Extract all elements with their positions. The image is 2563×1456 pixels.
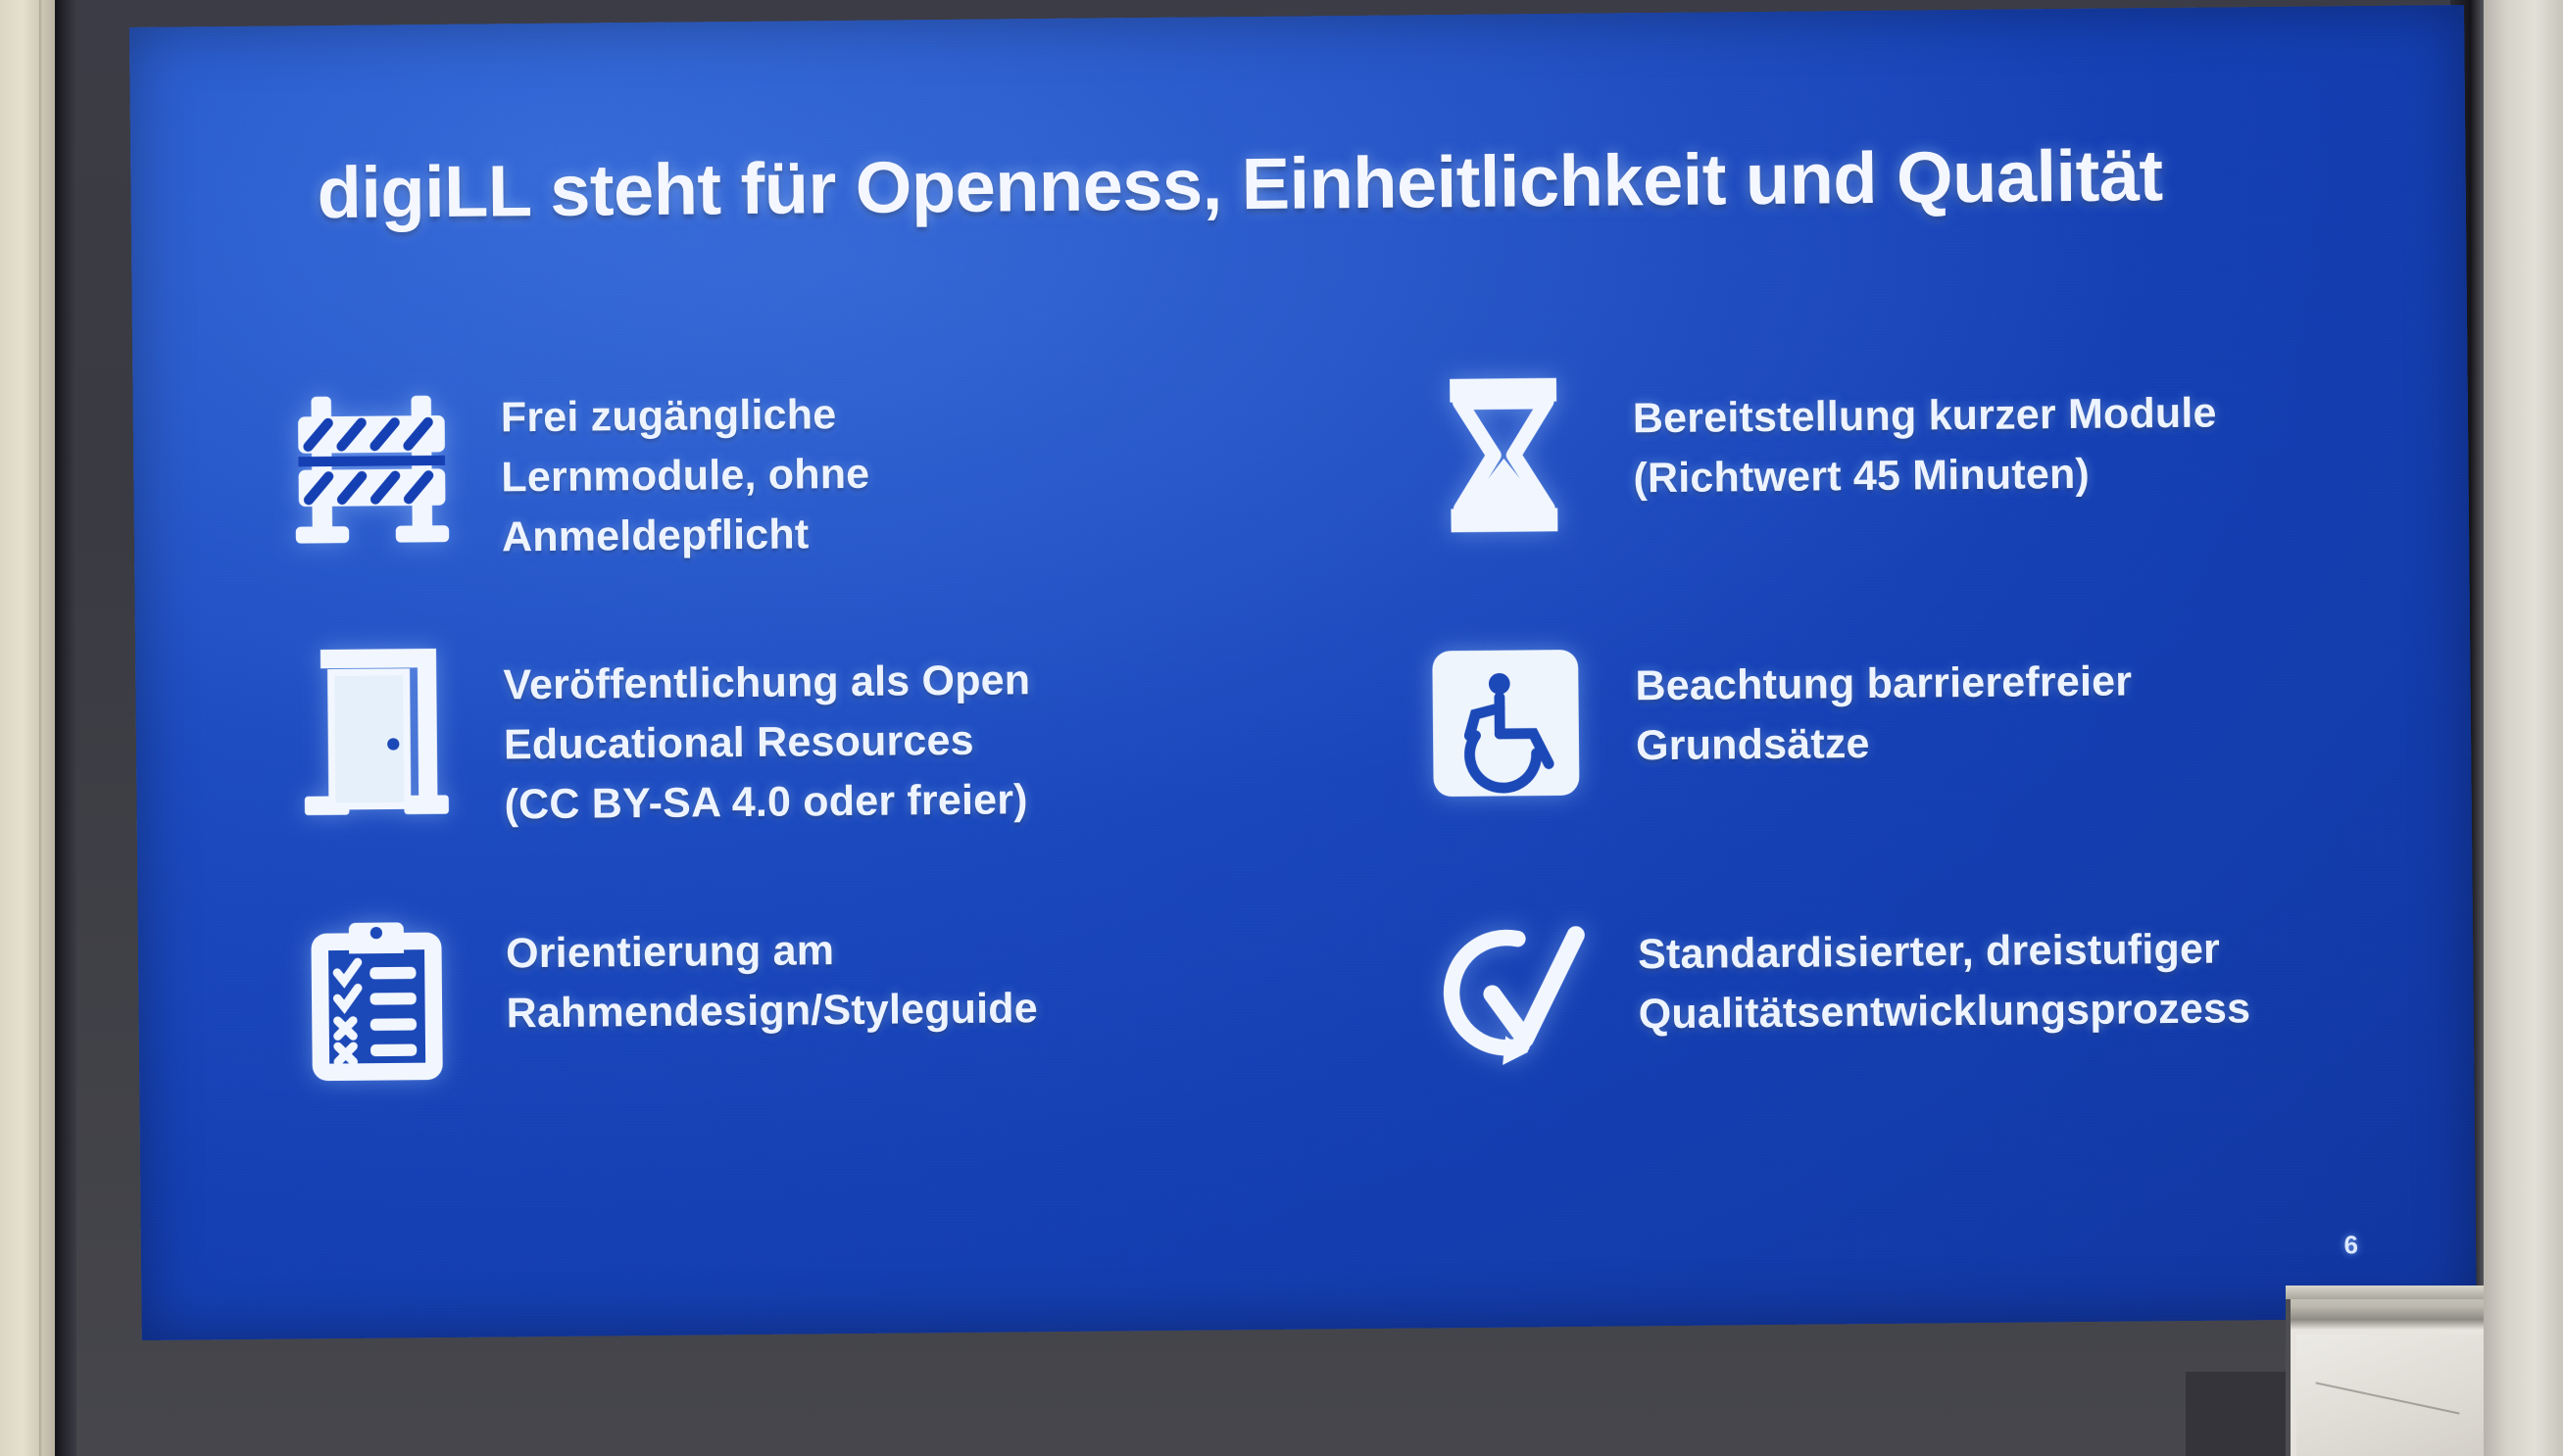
slide-page-number: 6 — [2343, 1230, 2358, 1260]
feature-text: Veröffentlichung als Open Educational Re… — [503, 630, 1032, 836]
feature-text: Orientierung am Rahmendesign/Styleguide — [506, 898, 1039, 1043]
feature-line: Frei zugängliche — [501, 385, 869, 449]
feature-line: Veröffentlichung als Open — [503, 652, 1030, 716]
wheelchair-accessibility-icon — [1414, 624, 1598, 822]
open-door-icon — [282, 635, 466, 833]
bezel-left-shadow — [55, 0, 76, 1456]
feature-line: Anmeldepflicht — [502, 505, 870, 568]
feature-text: Bereitstellung kurzer Module (Richtwert … — [1632, 351, 2217, 510]
wall-right — [2484, 0, 2563, 1456]
projector-screen-photo: digiLL steht für Openness, Einheitlichke… — [0, 0, 2563, 1456]
presentation-slide: digiLL steht für Openness, Einheitlichke… — [129, 5, 2477, 1340]
slide-title: digiLL steht für Openness, Einheitlichke… — [317, 133, 2376, 233]
feature-line: Grundsätze — [1636, 712, 2133, 777]
feature-line: Bereitstellung kurzer Module — [1633, 384, 2217, 450]
slide-content-grid: Frei zugängliche Lernmodule, ohne Anmeld… — [279, 349, 2375, 1172]
feature-item-free-access: Frei zugängliche Lernmodule, ohne Anmeld… — [279, 360, 1306, 637]
feature-line: Beachtung barrierefreier — [1635, 653, 2132, 717]
hourglass-icon — [1411, 357, 1595, 555]
clipboard-checklist-icon — [285, 902, 468, 1100]
flipchart-paper-fold — [2315, 1382, 2459, 1414]
feature-line: Standardisierter, dreistufiger — [1638, 919, 2250, 985]
feature-line: (Richtwert 45 Minuten) — [1633, 444, 2217, 510]
feature-line: Orientierung am — [506, 919, 1038, 984]
wall-left — [0, 0, 55, 1456]
feature-line: Lernmodule, ohne — [501, 445, 869, 509]
road-barrier-icon — [279, 367, 463, 565]
feature-line: (CC BY-SA 4.0 oder freier) — [504, 771, 1031, 836]
feature-item-quality-process: Standardisierter, dreistufiger Qualitäts… — [1349, 885, 2376, 1162]
feature-item-open-educational-resources: Veröffentlichung als Open Educational Re… — [282, 627, 1309, 904]
feature-text: Standardisierter, dreistufiger Qualitäts… — [1638, 886, 2251, 1044]
feature-line: Rahmendesign/Styleguide — [506, 979, 1038, 1043]
feature-item-accessibility: Beachtung barrierefreier Grundsätze — [1346, 616, 2373, 894]
feature-text: Beachtung barrierefreier Grundsätze — [1635, 619, 2133, 777]
bezel-bottom-corner — [2186, 1372, 2293, 1456]
feature-text: Frei zugängliche Lernmodule, ohne Anmeld… — [500, 364, 870, 568]
wall-left-seam — [39, 0, 43, 1456]
feature-line: Educational Resources — [504, 711, 1031, 776]
feature-item-short-modules: Bereitstellung kurzer Module (Richtwert … — [1343, 349, 2370, 626]
feature-item-styleguide: Orientierung am Rahmendesign/Styleguide — [285, 895, 1312, 1172]
cycle-checkmark-icon — [1417, 892, 1601, 1090]
feature-line: Qualitätsentwicklungsprozess — [1638, 979, 2250, 1044]
